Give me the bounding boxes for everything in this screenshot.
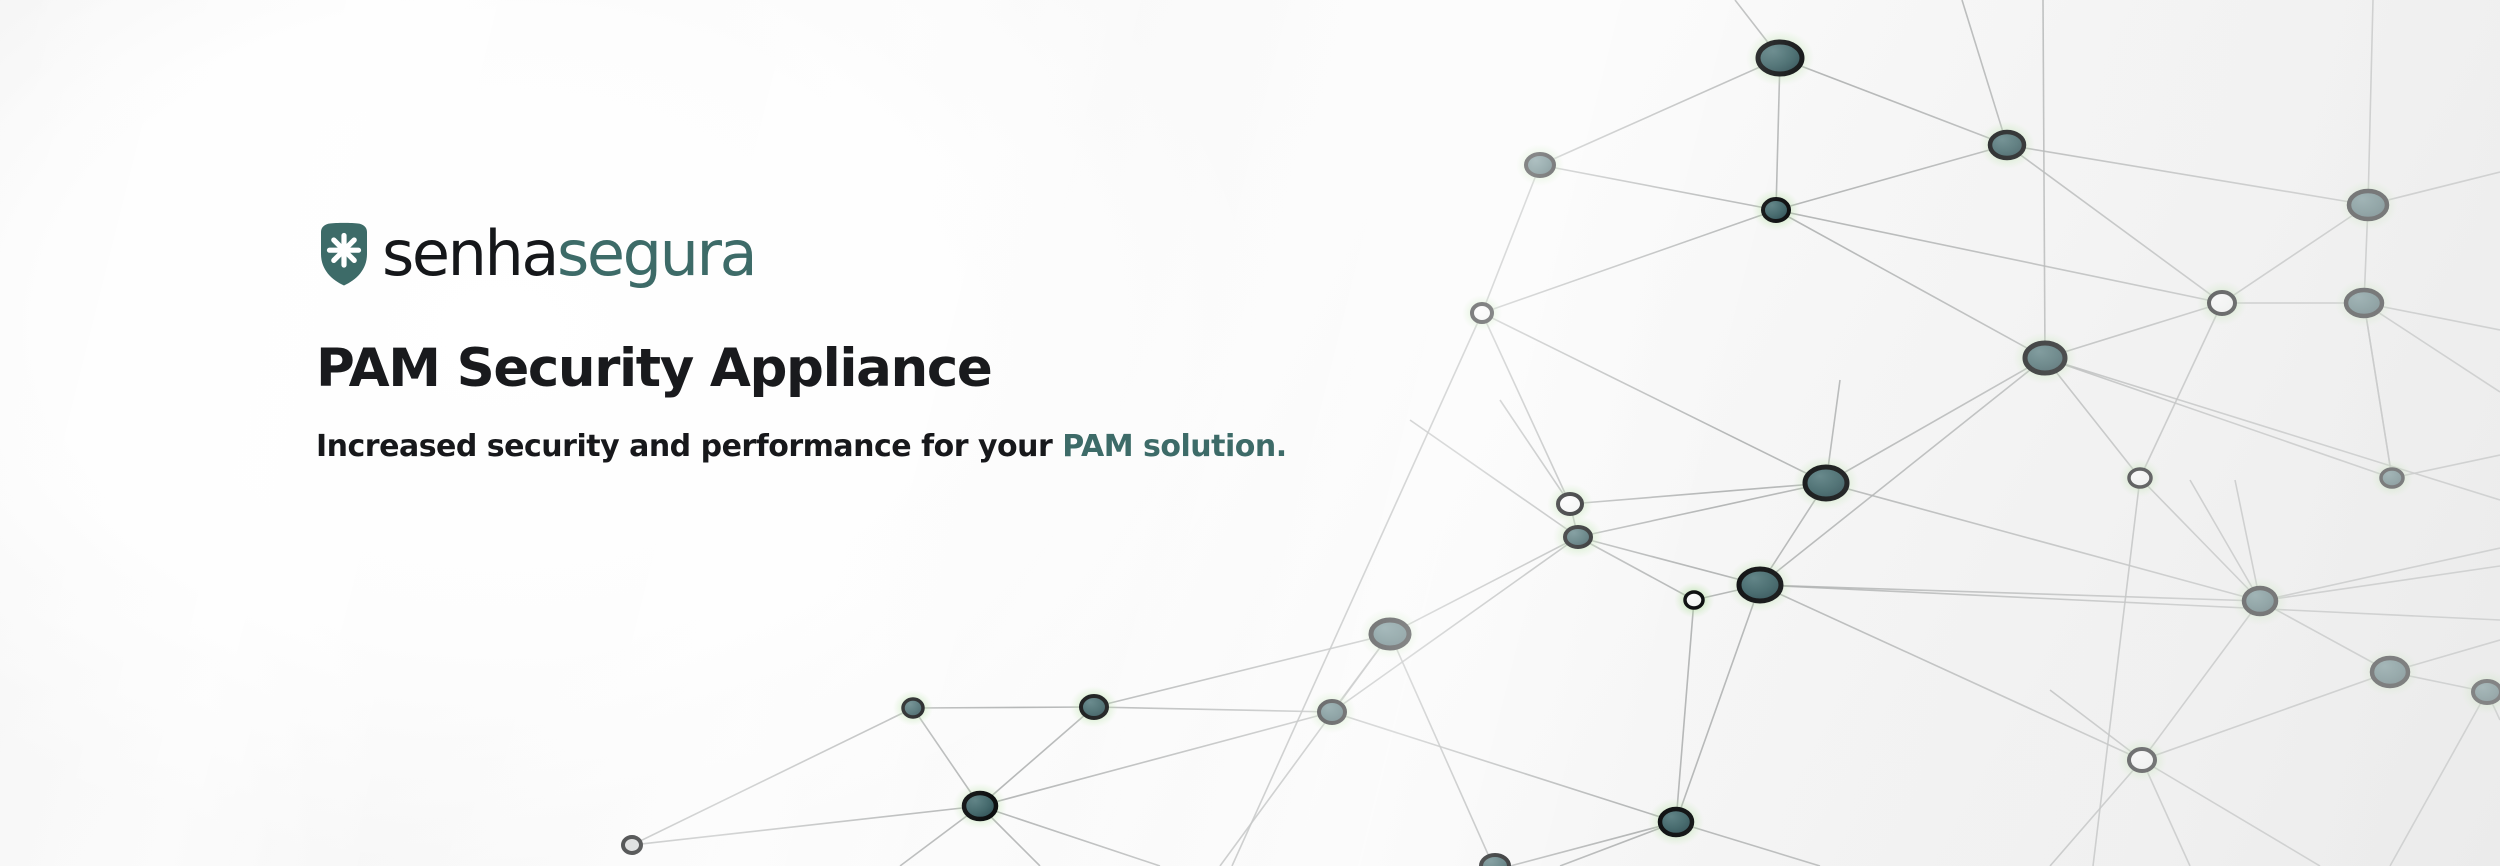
network-node: [2372, 658, 2408, 686]
network-node: [2473, 681, 2500, 703]
network-node: [903, 699, 923, 717]
network-node: [1558, 494, 1582, 514]
network-node: [1472, 304, 1492, 322]
network-node: [964, 793, 996, 819]
subtitle-lead-text: Increased security and performance for y…: [316, 429, 1062, 464]
network-node: [2349, 191, 2387, 219]
network-node: [2209, 292, 2235, 314]
network-node: [623, 837, 641, 853]
wordmark-segura: segura: [557, 217, 755, 290]
hero-banner: senhasegura PAM Security Appliance Incre…: [0, 0, 2500, 866]
network-node: [1758, 42, 1802, 74]
subtitle-accent-text: PAM solution.: [1062, 429, 1286, 464]
network-node: [2025, 343, 2065, 373]
network-node: [1565, 527, 1591, 547]
network-node: [1685, 592, 1703, 608]
network-node: [2346, 290, 2382, 316]
brand-logo[interactable]: senhasegura: [316, 215, 1316, 293]
network-node: [1660, 809, 1692, 835]
network-node: [1526, 154, 1554, 176]
network-node: [2381, 469, 2403, 487]
wordmark-senha: senha: [382, 217, 557, 290]
shield-asterisk-icon: [316, 220, 372, 288]
network-node: [2129, 749, 2155, 771]
network-node: [1990, 132, 2024, 158]
network-node: [1319, 701, 1345, 723]
network-node: [1739, 569, 1781, 601]
page-title: PAM Security Appliance: [316, 341, 1316, 397]
hero-content: senhasegura PAM Security Appliance Incre…: [316, 215, 1316, 465]
network-node: [1371, 620, 1409, 648]
network-node: [1763, 199, 1789, 221]
network-node: [1481, 855, 1509, 866]
brand-wordmark: senhasegura: [382, 223, 755, 285]
network-node: [2129, 469, 2151, 487]
network-node: [1081, 696, 1107, 718]
network-node: [1805, 467, 1847, 499]
network-node: [2244, 588, 2276, 614]
page-subtitle: Increased security and performance for y…: [316, 429, 1316, 465]
